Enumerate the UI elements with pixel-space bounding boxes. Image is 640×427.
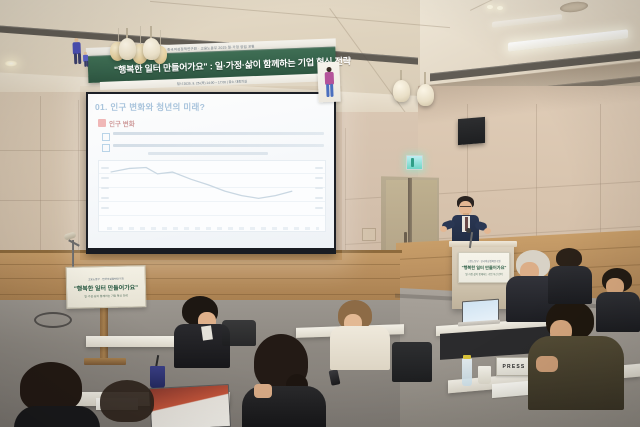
banner-person-illustration (317, 62, 341, 103)
audience-member (14, 362, 100, 427)
chart-line-series (105, 163, 311, 221)
wall-seam (40, 96, 41, 254)
ceiling-downlight (497, 6, 503, 10)
projected-slide: 01. 인구 변화와 청년의 미래? 인구 변화 (88, 94, 334, 248)
chair[interactable] (222, 320, 256, 346)
slide-section: 인구 변화 (98, 118, 135, 128)
press-sign: PRESS (496, 357, 532, 376)
press-sign-label: PRESS (503, 364, 526, 370)
wall-seam (78, 100, 79, 252)
event-placard: 고용노동부 · 한국여성정책연구원 "행복한 일터 만들어가요" 일·가정·삶이… (66, 265, 147, 309)
exit-sign (406, 155, 423, 170)
chair[interactable] (392, 342, 432, 382)
exit-running-man-icon (411, 158, 414, 167)
projection-screen: 01. 인구 변화와 청년의 미래? 인구 변화 (86, 92, 336, 254)
podium-sign-title: "행복한 일터 만들어가요" (462, 265, 507, 271)
placard-stand (100, 305, 108, 361)
bullet-text-line (113, 144, 324, 147)
audience-member (242, 334, 326, 427)
banner-subtitle: 일시 2025. 9. 25.(목) 14:00 ~ 17:00 | 장소 대회… (177, 78, 247, 86)
audience-member (548, 248, 592, 304)
podium-top (449, 241, 517, 247)
bullet-marker-icon (102, 144, 110, 152)
placard-organizer: 고용노동부 · 한국여성정책연구원 (88, 276, 124, 281)
bullet-text-line (113, 132, 324, 135)
conference-hall-photo: 01. 인구 변화와 청년의 미래? 인구 변화 (0, 0, 640, 427)
paper-cup[interactable] (478, 366, 491, 384)
stage-spotlight (417, 84, 434, 106)
slide-subnote-line (148, 152, 268, 155)
wall-seam (0, 150, 92, 151)
stage-spotlight (393, 80, 410, 102)
placard-subtitle: 일·가정·삶이 함께하는 기업 혁신 전략 (84, 293, 128, 298)
audience-member (96, 380, 166, 427)
podium-sign-organizer: 고용노동부 · 한국여성정책연구원 (468, 259, 501, 263)
ceiling-downlight (487, 5, 493, 9)
bottle-cap[interactable] (463, 355, 471, 359)
chart-x-tick-labels (107, 227, 319, 230)
screen-bottom-bar (86, 248, 336, 254)
bullet-marker-icon (102, 133, 110, 141)
slide-title: 01. 인구 변화와 청년의 미래? (95, 101, 327, 113)
podium-sign-subtitle: 일·가정·삶이 함께하는 기업 혁신 전략 (465, 272, 502, 276)
podium-sign: 고용노동부 · 한국여성정책연구원 "행복한 일터 만들어가요" 일·가정·삶이… (458, 252, 510, 283)
podium-microphone-icon (466, 228, 471, 233)
wall-mounted-speaker (458, 117, 485, 145)
slide-line-chart (98, 160, 326, 232)
placard-title: "행복한 일터 만들어가요" (74, 282, 138, 292)
audience-member (596, 268, 640, 330)
wall-control-panel (362, 228, 376, 241)
stage-spotlight (143, 38, 160, 60)
wall-seam (345, 128, 346, 250)
stage-spotlight (119, 38, 136, 60)
wall-seam (0, 200, 92, 201)
slide-bullet (102, 132, 324, 141)
audience-member (330, 300, 392, 370)
floor-cable (34, 312, 72, 328)
bar-chart-icon (98, 119, 106, 127)
banner-family-illustration (67, 38, 94, 75)
water-bottle[interactable] (462, 358, 472, 386)
slide-section-label: 인구 변화 (109, 118, 135, 128)
ceiling-downlight (4, 60, 18, 67)
slide-bullet (102, 144, 324, 153)
